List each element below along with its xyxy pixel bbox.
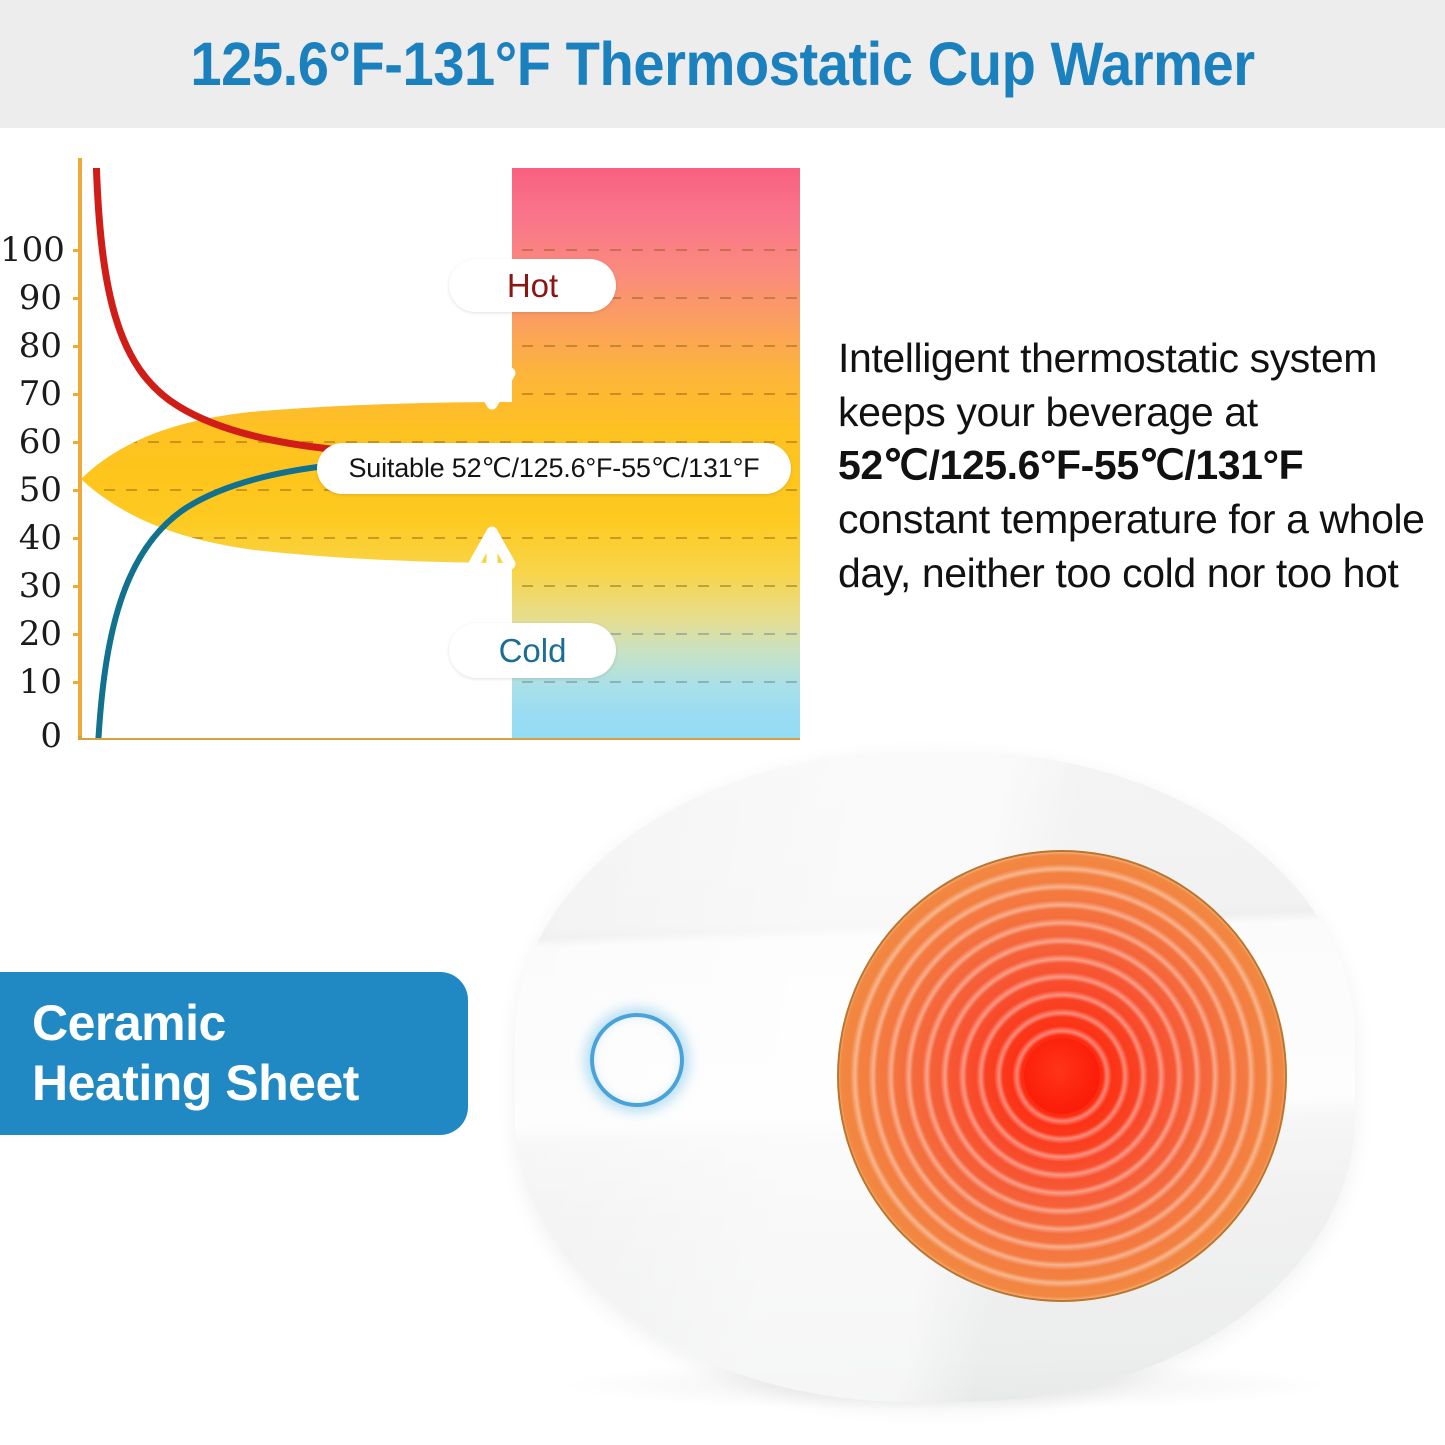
y-tick-70: 70 xyxy=(0,377,62,411)
cold-label-pill: Cold xyxy=(449,623,616,678)
badge-line-2: Heating Sheet xyxy=(32,1054,468,1114)
y-tick-0: 0 xyxy=(0,719,62,753)
suitable-label-pill: Suitable 52℃/125.6°F-55℃/131°F xyxy=(317,443,791,494)
product-image xyxy=(505,730,1395,1430)
feature-text-part1: Intelligent thermostatic system keeps yo… xyxy=(838,335,1377,435)
page-title: 125.6°F-131°F Thermostatic Cup Warmer xyxy=(58,0,1387,128)
y-tick-60: 60 xyxy=(0,425,62,459)
y-tick-10: 10 xyxy=(0,665,62,699)
y-tick-30: 30 xyxy=(0,569,62,603)
badge-line-1: Ceramic xyxy=(32,994,468,1054)
feature-description: Intelligent thermostatic system keeps yo… xyxy=(838,332,1438,601)
y-tick-90: 90 xyxy=(0,281,62,315)
power-button[interactable] xyxy=(590,1013,684,1107)
feature-text-bold: 52℃/125.6°F-55℃/131°F xyxy=(838,442,1303,488)
ceramic-heating-sheet-badge: Ceramic Heating Sheet xyxy=(0,972,468,1135)
chart-y-axis-labels: 100 90 80 70 60 50 40 30 20 10 0 xyxy=(0,150,62,760)
heating-element xyxy=(837,850,1287,1302)
hot-label-pill: Hot xyxy=(449,259,616,312)
feature-text-part2: constant temperature for a whole day, ne… xyxy=(838,496,1425,596)
y-tick-40: 40 xyxy=(0,521,62,555)
heating-core xyxy=(1024,1038,1100,1114)
y-tick-50: 50 xyxy=(0,473,62,507)
y-tick-20: 20 xyxy=(0,617,62,651)
y-tick-100: 100 xyxy=(0,233,62,267)
y-tick-80: 80 xyxy=(0,329,62,363)
